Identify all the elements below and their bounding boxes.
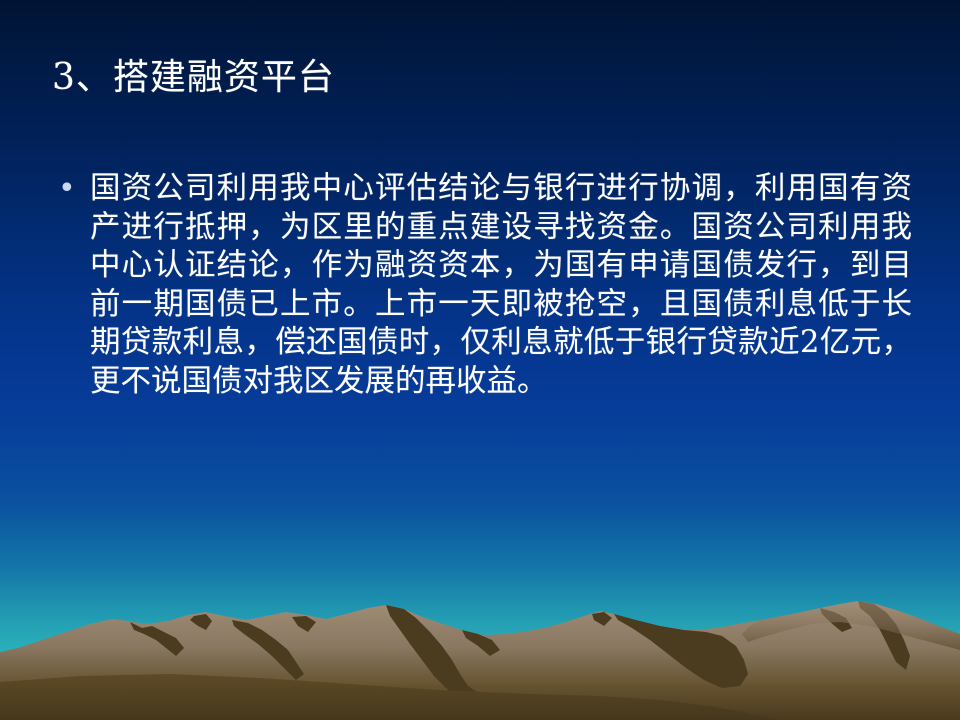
presentation-slide: 3、搭建融资平台 • 国资公司利用我中心评估结论与银行进行协调，利用国有资产进行… — [0, 0, 960, 720]
slide-title: 3、搭建融资平台 — [52, 56, 912, 100]
slide-body-content: • 国资公司利用我中心评估结论与银行进行协调，利用国有资产进行抵押，为区里的重点… — [52, 170, 912, 401]
bullet-point-icon: • — [52, 170, 90, 208]
mountain-range-silhouette — [0, 590, 960, 720]
bullet-list-item: • 国资公司利用我中心评估结论与银行进行协调，利用国有资产进行抵押，为区里的重点… — [52, 170, 912, 401]
bullet-paragraph-text: 国资公司利用我中心评估结论与银行进行协调，利用国有资产进行抵押，为区里的重点建设… — [90, 170, 912, 401]
